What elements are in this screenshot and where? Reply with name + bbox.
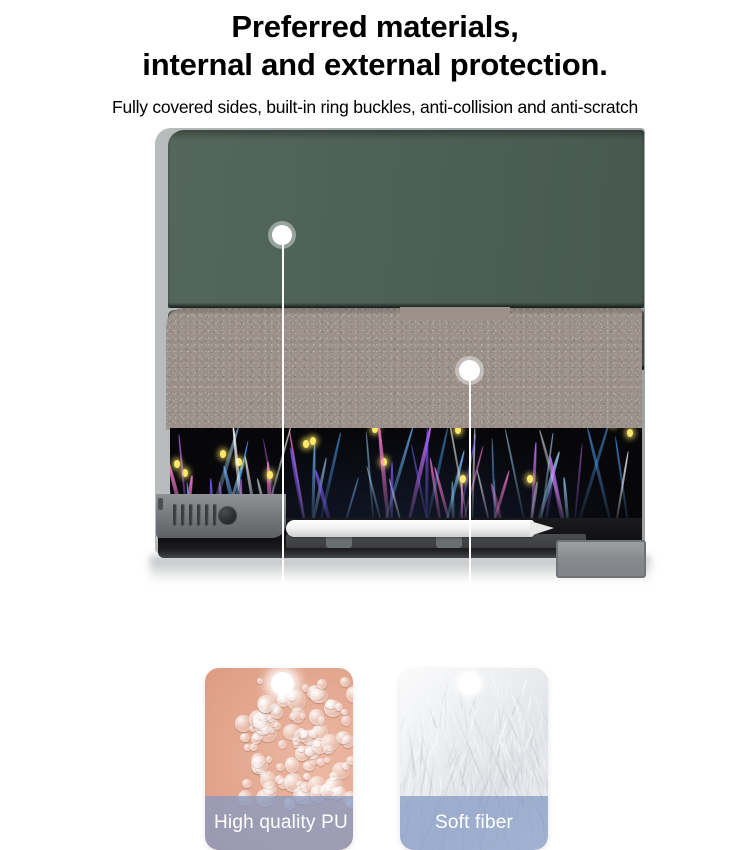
liner-notch <box>400 307 510 318</box>
product-photo: High quality PU Soft fiber <box>0 120 750 750</box>
case-front-cover <box>168 130 644 308</box>
callout-label-fiber: Soft fiber <box>400 796 548 850</box>
device-bottom-left-frame <box>156 494 286 538</box>
headline-line-2: internal and external protection. <box>20 46 730 84</box>
apple-pencil <box>286 520 534 537</box>
frame-tab <box>158 498 163 510</box>
marker-dot-fiber-card <box>458 672 481 695</box>
headline-line-1: Preferred materials, <box>231 9 518 44</box>
marker-dot-pu-card <box>271 672 294 695</box>
marker-dot-cover <box>272 225 292 245</box>
callout-label-pu: High quality PU <box>205 796 353 850</box>
callout-card-soft-fiber[interactable]: Soft fiber <box>400 668 548 850</box>
suede-texture <box>166 308 642 430</box>
page-title: Preferred materials, internal and extern… <box>0 8 750 84</box>
speaker-grille <box>173 504 217 526</box>
callout-line-pu <box>282 235 284 672</box>
page-subtitle: Fully covered sides, built-in ring buckl… <box>0 84 750 118</box>
marker-dot-liner <box>459 360 480 381</box>
case-inner-liner <box>166 308 642 430</box>
callout-card-high-quality-pu[interactable]: High quality PU <box>205 668 353 850</box>
callout-line-fiber <box>469 370 471 672</box>
product-base-shadow <box>150 556 650 582</box>
camera-port <box>218 506 237 525</box>
header: Preferred materials, internal and extern… <box>0 0 750 118</box>
apple-pencil-tip <box>530 521 554 536</box>
